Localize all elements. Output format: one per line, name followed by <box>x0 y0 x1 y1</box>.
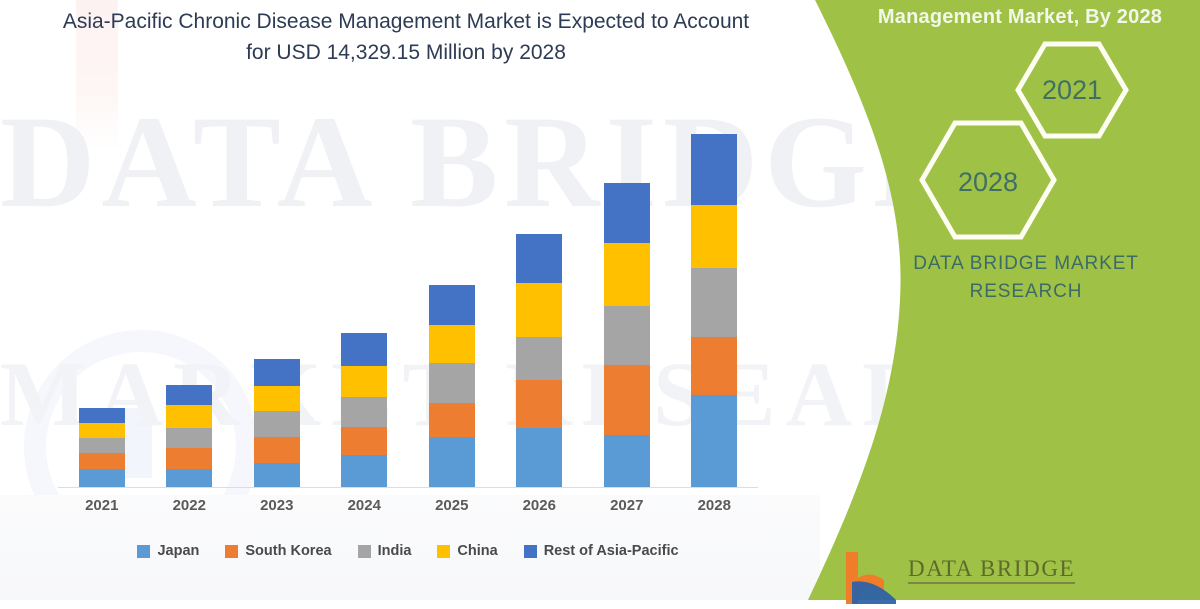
bar-group-2022 <box>145 100 233 487</box>
bar-segment[interactable] <box>254 359 300 386</box>
legend-swatch-icon <box>225 545 238 558</box>
legend-label: Japan <box>157 543 199 559</box>
x-axis-label-2026: 2026 <box>495 497 583 514</box>
bar-segment[interactable] <box>166 469 212 487</box>
bar-segment[interactable] <box>604 306 650 365</box>
bar-segment[interactable] <box>516 380 562 428</box>
legend-label: China <box>457 543 497 559</box>
x-axis-labels: 20212022202320242025202620272028 <box>58 497 758 527</box>
bar-segment[interactable] <box>604 435 650 487</box>
bar-segment[interactable] <box>341 397 387 427</box>
bar-segment[interactable] <box>429 403 475 437</box>
hexagon-2021-label: 2021 <box>1042 75 1102 105</box>
bar-segment[interactable] <box>516 283 562 337</box>
bar-segment[interactable] <box>79 453 125 469</box>
bar-segment[interactable] <box>604 243 650 306</box>
bar-segment[interactable] <box>79 423 125 438</box>
company-logo: DATA BRIDGE <box>836 548 1166 604</box>
bar-segment[interactable] <box>254 386 300 411</box>
bar-segment[interactable] <box>254 411 300 437</box>
legend-swatch-icon <box>137 545 150 558</box>
x-axis-label-2024: 2024 <box>320 497 408 514</box>
stacked-bar[interactable] <box>516 234 562 487</box>
bar-segment[interactable] <box>341 333 387 366</box>
x-axis-label-2025: 2025 <box>408 497 496 514</box>
bar-segment[interactable] <box>604 183 650 243</box>
x-axis-label-2027: 2027 <box>583 497 671 514</box>
stacked-bar[interactable] <box>254 359 300 487</box>
bar-segment[interactable] <box>341 427 387 455</box>
bar-group-2028 <box>670 100 758 487</box>
legend-item[interactable]: Rest of Asia-Pacific <box>524 543 679 559</box>
bar-group-2027 <box>583 100 671 487</box>
legend-label: India <box>378 543 412 559</box>
bar-group-2026 <box>495 100 583 487</box>
x-axis-label-2028: 2028 <box>670 497 758 514</box>
logo-wordmark: DATA BRIDGE <box>908 556 1075 582</box>
x-axis-label-2022: 2022 <box>145 497 233 514</box>
chart-area: Asia-Pacific Chronic Disease Management … <box>0 0 800 600</box>
stacked-bar[interactable] <box>604 183 650 487</box>
legend-item[interactable]: India <box>358 543 412 559</box>
bar-segment[interactable] <box>429 363 475 403</box>
plot-area <box>58 100 758 487</box>
bar-segment[interactable] <box>254 437 300 463</box>
bar-segment[interactable] <box>429 325 475 363</box>
bar-segment[interactable] <box>691 395 737 487</box>
brand-name: DATA BRIDGE MARKET RESEARCH <box>866 250 1186 306</box>
bar-segment[interactable] <box>166 448 212 469</box>
x-axis-line <box>58 487 758 488</box>
bar-segment[interactable] <box>341 366 387 397</box>
stacked-bar[interactable] <box>429 285 475 487</box>
bar-segment[interactable] <box>691 205 737 268</box>
bar-segment[interactable] <box>254 463 300 487</box>
stacked-bar[interactable] <box>691 134 737 487</box>
chart-legend: JapanSouth KoreaIndiaChinaRest of Asia-P… <box>58 538 758 564</box>
legend-swatch-icon <box>437 545 450 558</box>
bar-group-2024 <box>320 100 408 487</box>
bar-group-2021 <box>58 100 146 487</box>
legend-label: Rest of Asia-Pacific <box>544 543 679 559</box>
stacked-bar[interactable] <box>341 333 387 487</box>
logo-wordmark-text: DATA BRIDGE <box>908 556 1075 584</box>
bar-segment[interactable] <box>516 337 562 380</box>
logo-swoosh-icon <box>852 581 896 604</box>
bar-segment[interactable] <box>79 469 125 487</box>
brand-name-line-1: DATA BRIDGE MARKET <box>866 250 1186 278</box>
bar-segment[interactable] <box>691 268 737 337</box>
bar-segment[interactable] <box>429 437 475 487</box>
bar-segment[interactable] <box>691 337 737 395</box>
bar-segment[interactable] <box>604 365 650 435</box>
chart-title: Asia-Pacific Chronic Disease Management … <box>56 6 756 68</box>
legend-item[interactable]: China <box>437 543 497 559</box>
bar-group-2025 <box>408 100 496 487</box>
bar-segment[interactable] <box>429 285 475 325</box>
bar-segment[interactable] <box>166 385 212 405</box>
x-axis-label-2021: 2021 <box>58 497 146 514</box>
bar-segment[interactable] <box>79 438 125 453</box>
bar-segment[interactable] <box>691 134 737 205</box>
bar-segment[interactable] <box>166 405 212 428</box>
bar-segment[interactable] <box>166 428 212 448</box>
bar-group-2023 <box>233 100 321 487</box>
legend-swatch-icon <box>358 545 371 558</box>
legend-item[interactable]: Japan <box>137 543 199 559</box>
bar-segment[interactable] <box>341 455 387 487</box>
hexagon-2028-label: 2028 <box>958 167 1018 197</box>
stacked-bar[interactable] <box>79 408 125 487</box>
brand-name-line-2: RESEARCH <box>866 278 1186 306</box>
bar-segment[interactable] <box>516 428 562 487</box>
legend-swatch-icon <box>524 545 537 558</box>
x-axis-label-2023: 2023 <box>233 497 321 514</box>
bar-segment[interactable] <box>516 234 562 283</box>
legend-label: South Korea <box>245 543 331 559</box>
stacked-bar[interactable] <box>166 385 212 487</box>
legend-item[interactable]: South Korea <box>225 543 331 559</box>
bar-segment[interactable] <box>79 408 125 423</box>
